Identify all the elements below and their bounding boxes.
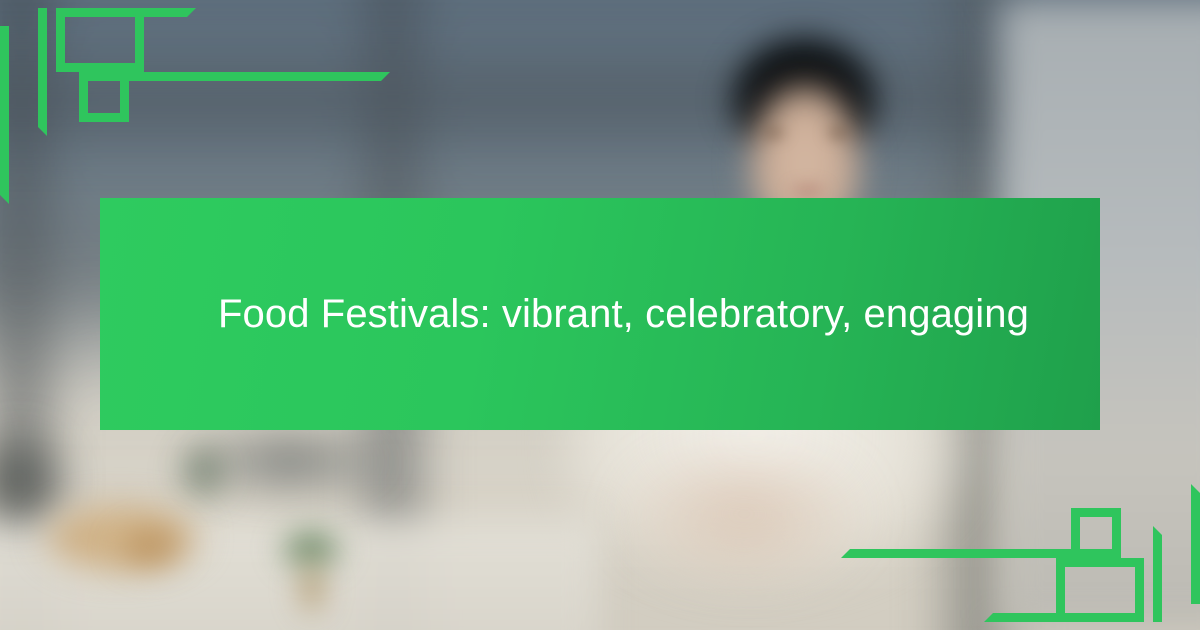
social-card: Food Festivals: vibrant, celebratory, en… (0, 0, 1200, 630)
background-plant-stem (286, 560, 338, 630)
page-title: Food Festivals: vibrant, celebratory, en… (218, 289, 1029, 339)
deco-line-bottom-2 (841, 549, 1121, 558)
background-person-arm (600, 430, 900, 630)
background-person-eyes (742, 120, 868, 146)
deco-line-vertical-4 (1153, 526, 1162, 622)
deco-square-outer-br (1056, 558, 1144, 622)
deco-line-top-2 (79, 72, 390, 81)
deco-line-vertical-2 (38, 8, 47, 136)
background-green-object (168, 432, 238, 512)
deco-line-vertical-3 (1191, 484, 1200, 604)
deco-line-vertical-1 (0, 26, 9, 204)
deco-square-outer (56, 8, 144, 72)
title-banner: Food Festivals: vibrant, celebratory, en… (100, 198, 1100, 430)
background-bread-detail (104, 520, 196, 576)
